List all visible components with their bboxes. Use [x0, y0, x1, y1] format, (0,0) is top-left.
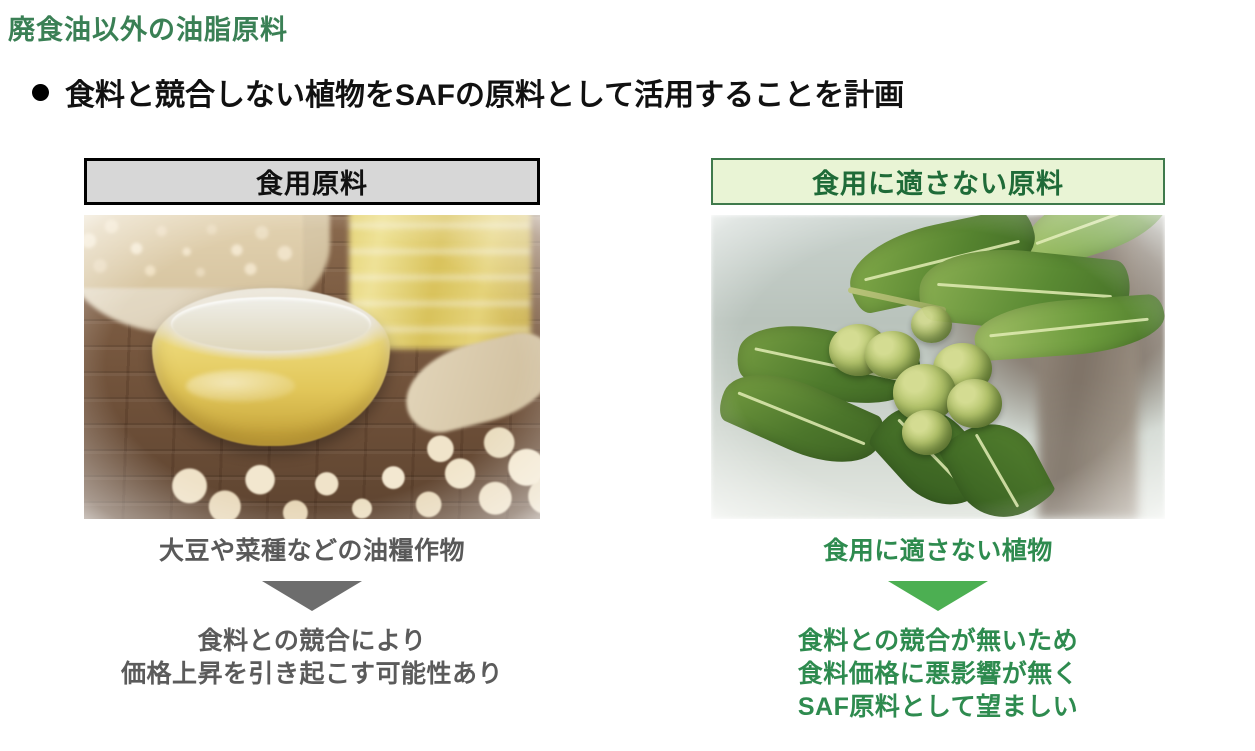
caption-inedible: 食用に適さない植物 — [711, 531, 1165, 567]
fruit — [911, 306, 952, 342]
conclusion-line: 価格上昇を引き起こす可能性あり — [84, 658, 540, 691]
column-edible: 食用原料 大豆や菜種などの油糧作物 食料との競合により 価格上昇を引き起こす可能… — [84, 158, 540, 691]
page-title: 廃食油以外の油脂原料 — [8, 8, 288, 47]
fruit — [947, 379, 1001, 428]
down-arrow-icon — [262, 581, 362, 611]
bullet-line: 食料と競合しない植物をSAFの原料として活用することを計画 — [32, 70, 904, 114]
arrow-container-edible — [84, 581, 540, 611]
conclusion-line: 食料価格に悪影響が無く — [711, 658, 1165, 691]
arrow-container-inedible — [711, 581, 1165, 611]
header-box-edible: 食用原料 — [84, 158, 540, 205]
conclusion-line: 食料との競合により — [84, 625, 540, 658]
conclusion-edible: 食料との競合により 価格上昇を引き起こす可能性あり — [84, 625, 540, 691]
conclusion-line: SAF原料として望ましい — [711, 691, 1165, 724]
bullet-text: 食料と競合しない植物をSAFの原料として活用することを計画 — [65, 70, 904, 114]
column-inedible: 食用に適さない原料 食用に適さない植物 食料との競合が無いため — [711, 158, 1165, 724]
bullet-dot-icon — [32, 84, 49, 101]
conclusion-line: 食料との競合が無いため — [711, 625, 1165, 658]
caption-edible: 大豆や菜種などの油糧作物 — [84, 531, 540, 567]
soybeans-in-sack — [84, 215, 303, 288]
inedible-plant-photo — [711, 215, 1165, 519]
fruit — [902, 410, 952, 456]
scattered-soybeans — [166, 422, 540, 519]
soybean-oil-photo — [84, 215, 540, 519]
header-box-inedible: 食用に適さない原料 — [711, 158, 1165, 205]
down-arrow-icon — [888, 581, 988, 611]
conclusion-inedible: 食料との競合が無いため 食料価格に悪影響が無く SAF原料として望ましい — [711, 625, 1165, 724]
